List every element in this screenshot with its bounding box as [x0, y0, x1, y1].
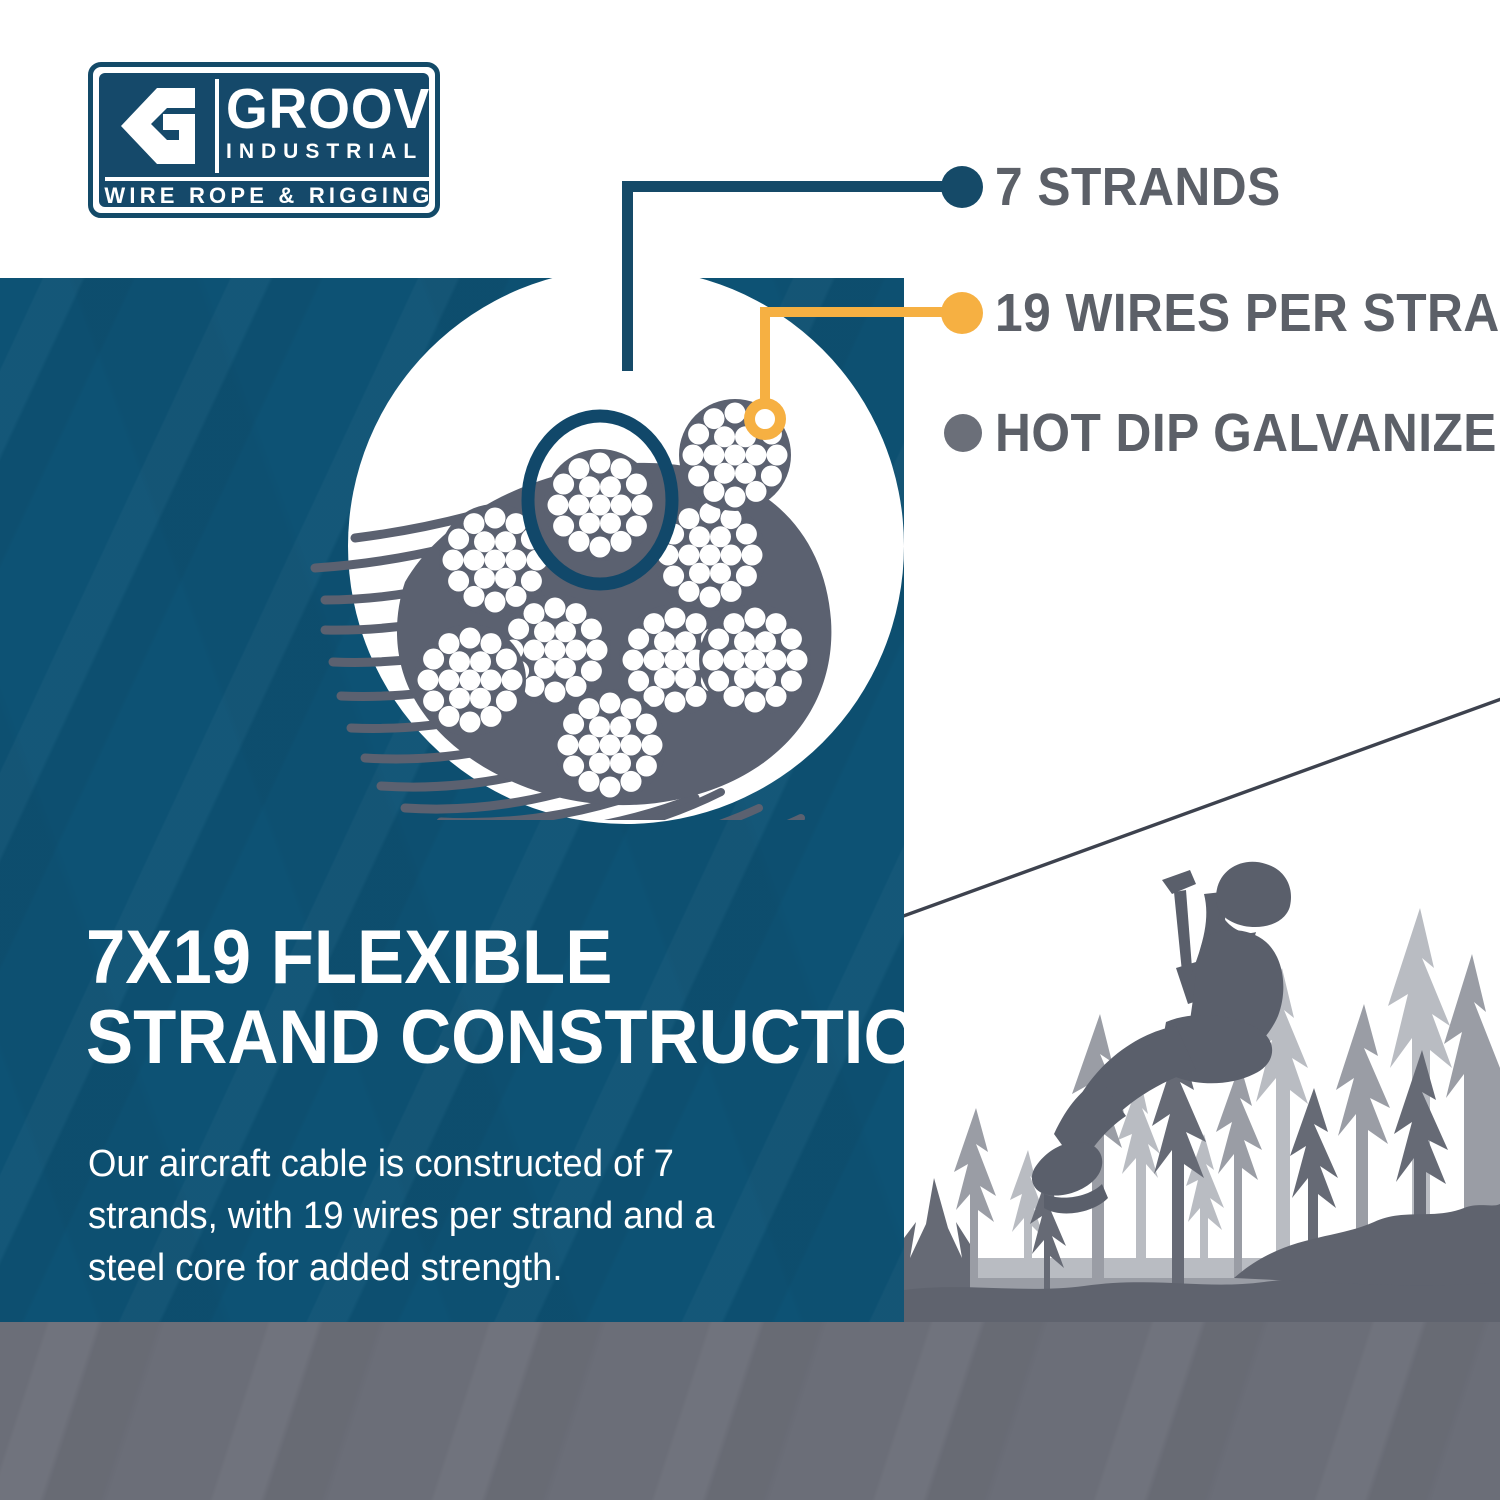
connector-navy-vertical [622, 181, 633, 371]
brand-logo[interactable]: GROOVE INDUSTRIAL WIRE ROPE & RIGGING [88, 62, 440, 218]
hero-heading-line-1: 7X19 FLEXIBLE [86, 918, 821, 998]
wire-highlight-ring [744, 398, 786, 440]
groove-g-icon [99, 73, 215, 178]
connector-amber-horizontal [760, 307, 950, 317]
callout-label-galvanized: HOT DIP GALVANIZED [995, 406, 1500, 460]
hero-heading-line-2: STRAND CONSTRUCTION [86, 998, 821, 1078]
logo-name-primary: GROOVE [226, 79, 414, 139]
hero-heading: 7X19 FLEXIBLE STRAND CONSTRUCTION [86, 918, 821, 1078]
callout-label-wires-per-strand: 19 WIRES PER STRAND [995, 286, 1500, 340]
logo-inner-plate: GROOVE INDUSTRIAL WIRE ROPE & RIGGING [99, 73, 429, 207]
logo-tagline: WIRE ROPE & RIGGING [99, 183, 429, 207]
wire-rope-cross-section [255, 300, 875, 820]
hero-body-text: Our aircraft cable is constructed of 7 s… [88, 1138, 760, 1294]
logo-wordmark: GROOVE INDUSTRIAL [226, 79, 426, 177]
callout-marker-gray [944, 414, 982, 452]
bottom-band-texture [0, 1322, 1500, 1500]
connector-navy-horizontal [622, 181, 947, 192]
callout-label-strands: 7 STRANDS [995, 160, 1281, 214]
infographic-canvas: 7 STRANDS 19 WIRES PER STRAND HOT DIP GA… [0, 0, 1500, 1500]
callout-marker-navy [941, 166, 983, 208]
logo-divider-vertical [215, 79, 219, 173]
bottom-band [0, 1322, 1500, 1500]
callout-marker-amber [941, 292, 983, 334]
logo-name-secondary: INDUSTRIAL [226, 139, 426, 165]
logo-divider-horizontal [105, 177, 429, 181]
